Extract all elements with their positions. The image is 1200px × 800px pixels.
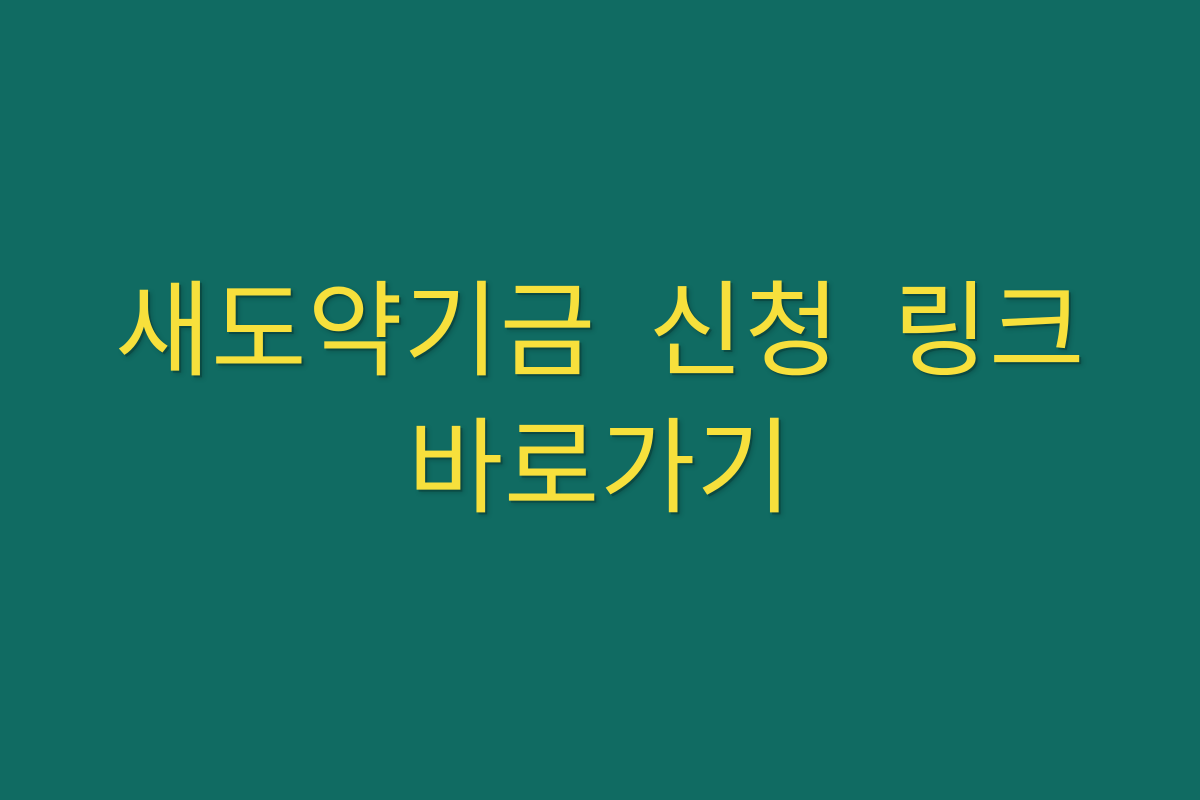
banner-headline: 새도약기금 신청 링크 바로가기 (70, 263, 1130, 538)
banner-canvas: 새도약기금 신청 링크 바로가기 (0, 0, 1200, 800)
